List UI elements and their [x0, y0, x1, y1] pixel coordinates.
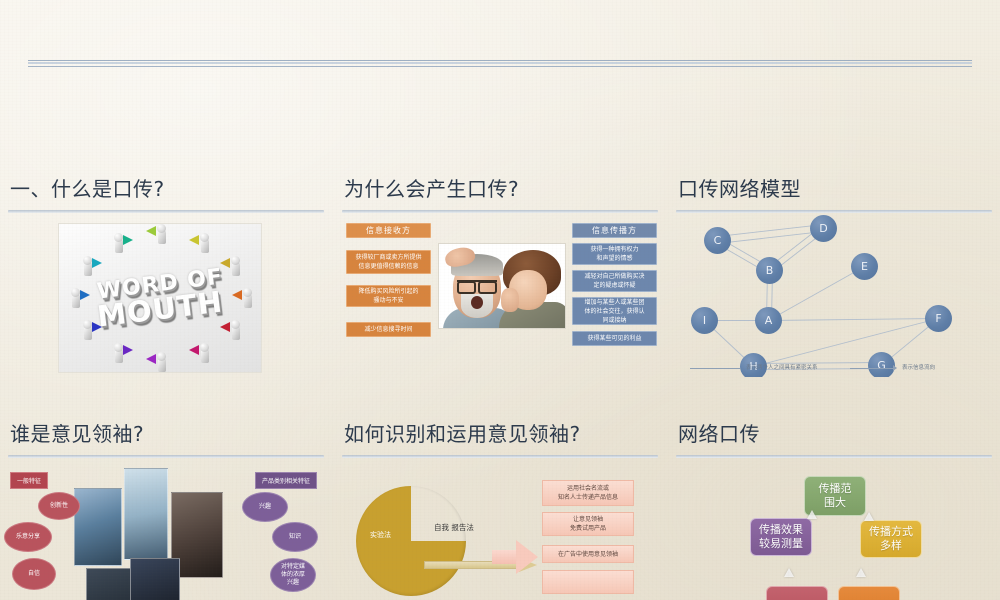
spreader-item: 增加与某些人或某些团 体的社会交往，获得认 同或接纳 — [572, 297, 657, 325]
general-traits-caption: 一般特征 — [10, 472, 48, 489]
slide-title: 谁是意见领袖? — [10, 418, 144, 447]
action-item: 让意见领袖 免费试用产品 — [542, 512, 634, 536]
network-node-e[interactable]: E — [851, 253, 878, 280]
megaphone-figure-icon — [155, 352, 168, 372]
up-arrow-icon — [807, 510, 817, 519]
spreader-item: 获得某些可见的利益 — [572, 331, 657, 346]
title-underline — [676, 455, 992, 458]
wom-feature-box — [838, 586, 900, 600]
product-trait: 兴趣 — [242, 492, 288, 522]
whisper-photo — [438, 243, 566, 329]
network-node-f[interactable]: F — [925, 305, 952, 332]
slide-title: 网络口传 — [678, 418, 760, 447]
pink-arrow-icon — [492, 540, 538, 574]
up-arrow-icon — [864, 512, 874, 521]
megaphone-figure-icon — [229, 320, 242, 340]
megaphone-figure-icon — [241, 288, 254, 308]
action-item: 在广告中使用意见领袖 — [542, 545, 634, 563]
slide-title: 一、什么是口传? — [10, 173, 165, 202]
title-underline — [342, 210, 658, 213]
slide-network-wom[interactable]: 网络口传 传播范 围大传播效果 较易测量传播方式 多样 — [668, 400, 1000, 600]
product-trait: 知识 — [272, 522, 318, 552]
network-node-d[interactable]: D — [810, 215, 837, 242]
megaphone-figure-icon — [198, 343, 211, 363]
slide-title: 如何识别和运用意见领袖? — [344, 418, 581, 447]
slide-who-is-opinion-leader[interactable]: 谁是意见领袖? 一般特征 创新性乐意分享自信 产品类别相关特征 兴趣知识对特定媒… — [0, 400, 332, 600]
legend-label-flow: 表示信息流向 — [902, 363, 935, 371]
network-graph: CDBEIAFHG 表示两个人之间具有紧密关系 表示信息流向 — [668, 215, 1000, 377]
megaphone-figure-icon — [112, 343, 125, 363]
megaphone-figure-icon — [81, 256, 94, 276]
legend-label-tie: 表示两个人之间具有紧密关系 — [746, 363, 818, 371]
title-underline — [342, 455, 658, 458]
receiver-item: 减少信息搜寻时间 — [346, 322, 431, 337]
spreader-item: 获得一种拥有权力 和声望的情感 — [572, 243, 657, 265]
wom-feature-box: 传播效果 较易测量 — [750, 518, 812, 556]
word-of-mouth-illustration: WORD OF MOUTH — [58, 223, 262, 373]
megaphone-figure-icon — [81, 320, 94, 340]
receiver-header: 信息接收方 — [346, 223, 431, 238]
megaphone-figure-icon — [198, 233, 211, 253]
header-divider — [28, 60, 972, 68]
megaphone-figure-icon — [112, 233, 125, 253]
celebrity-photo — [74, 488, 122, 566]
network-node-a[interactable]: A — [755, 307, 782, 334]
product-traits-caption: 产品类别相关特征 — [255, 472, 317, 489]
megaphone-figure-icon — [155, 224, 168, 244]
wom-feature-box — [766, 586, 828, 600]
spreader-item: 减轻对自己所做购买决 定的疑虑或怀疑 — [572, 270, 657, 292]
title-underline — [8, 455, 324, 458]
spreader-header: 信息传播方 — [572, 223, 657, 238]
general-trait: 创新性 — [38, 492, 80, 520]
slide-wom-network-model[interactable]: 口传网络模型 CDBEIAFHG 表示两个人之间具有紧密关系 表示信息流向 — [668, 155, 1000, 377]
receiver-item: 获得较厂商或卖方所提供 信息更值得信赖的信息 — [346, 250, 431, 274]
general-trait: 自信 — [12, 558, 56, 590]
action-item: 运用社会名流或 知名人士传递产品信息 — [542, 480, 634, 506]
method-pie-chart — [356, 486, 466, 596]
slide-how-to-identify[interactable]: 如何识别和运用意见领袖? 实验法 自我 报告法 运用社会名流或 知名人士传递产品… — [334, 400, 666, 600]
up-arrow-icon — [784, 568, 794, 577]
pie-slice-label: 实验法 — [370, 530, 391, 540]
network-node-b[interactable]: B — [756, 257, 783, 284]
title-underline — [676, 210, 992, 213]
slide-title: 为什么会产生口传? — [344, 173, 519, 202]
network-node-i[interactable]: I — [691, 307, 718, 334]
celebrity-photo — [130, 558, 180, 600]
up-arrow-icon — [856, 568, 866, 577]
product-trait: 对特定媒 体的浓厚 兴趣 — [270, 558, 316, 592]
megaphone-figure-icon — [229, 256, 242, 276]
pie-other-label: 自我 报告法 — [434, 522, 474, 533]
wom-feature-box: 传播方式 多样 — [860, 520, 922, 558]
megaphone-figure-icon — [69, 288, 82, 308]
slide-why-wom[interactable]: 为什么会产生口传? 信息接收方 获得较厂商或卖方所提供 信息更值得信赖的信息降低… — [334, 155, 666, 377]
slide-what-is-wom[interactable]: 一、什么是口传? WORD OF MOUTH — [0, 155, 332, 377]
slide-thumbnail-grid: 一、什么是口传? WORD OF MOUTH 为什么会产生口传? 信息接收方 获… — [0, 155, 1000, 600]
general-trait: 乐意分享 — [4, 522, 52, 552]
network-legend: 表示两个人之间具有紧密关系 表示信息流向 — [690, 363, 990, 377]
title-underline — [8, 210, 324, 213]
celebrity-photo — [124, 468, 168, 560]
slide-title: 口传网络模型 — [678, 173, 801, 202]
network-node-c[interactable]: C — [704, 227, 731, 254]
action-item-partial — [542, 570, 634, 594]
receiver-item: 降低购买风险所引起的 骚动与不安 — [346, 285, 431, 307]
